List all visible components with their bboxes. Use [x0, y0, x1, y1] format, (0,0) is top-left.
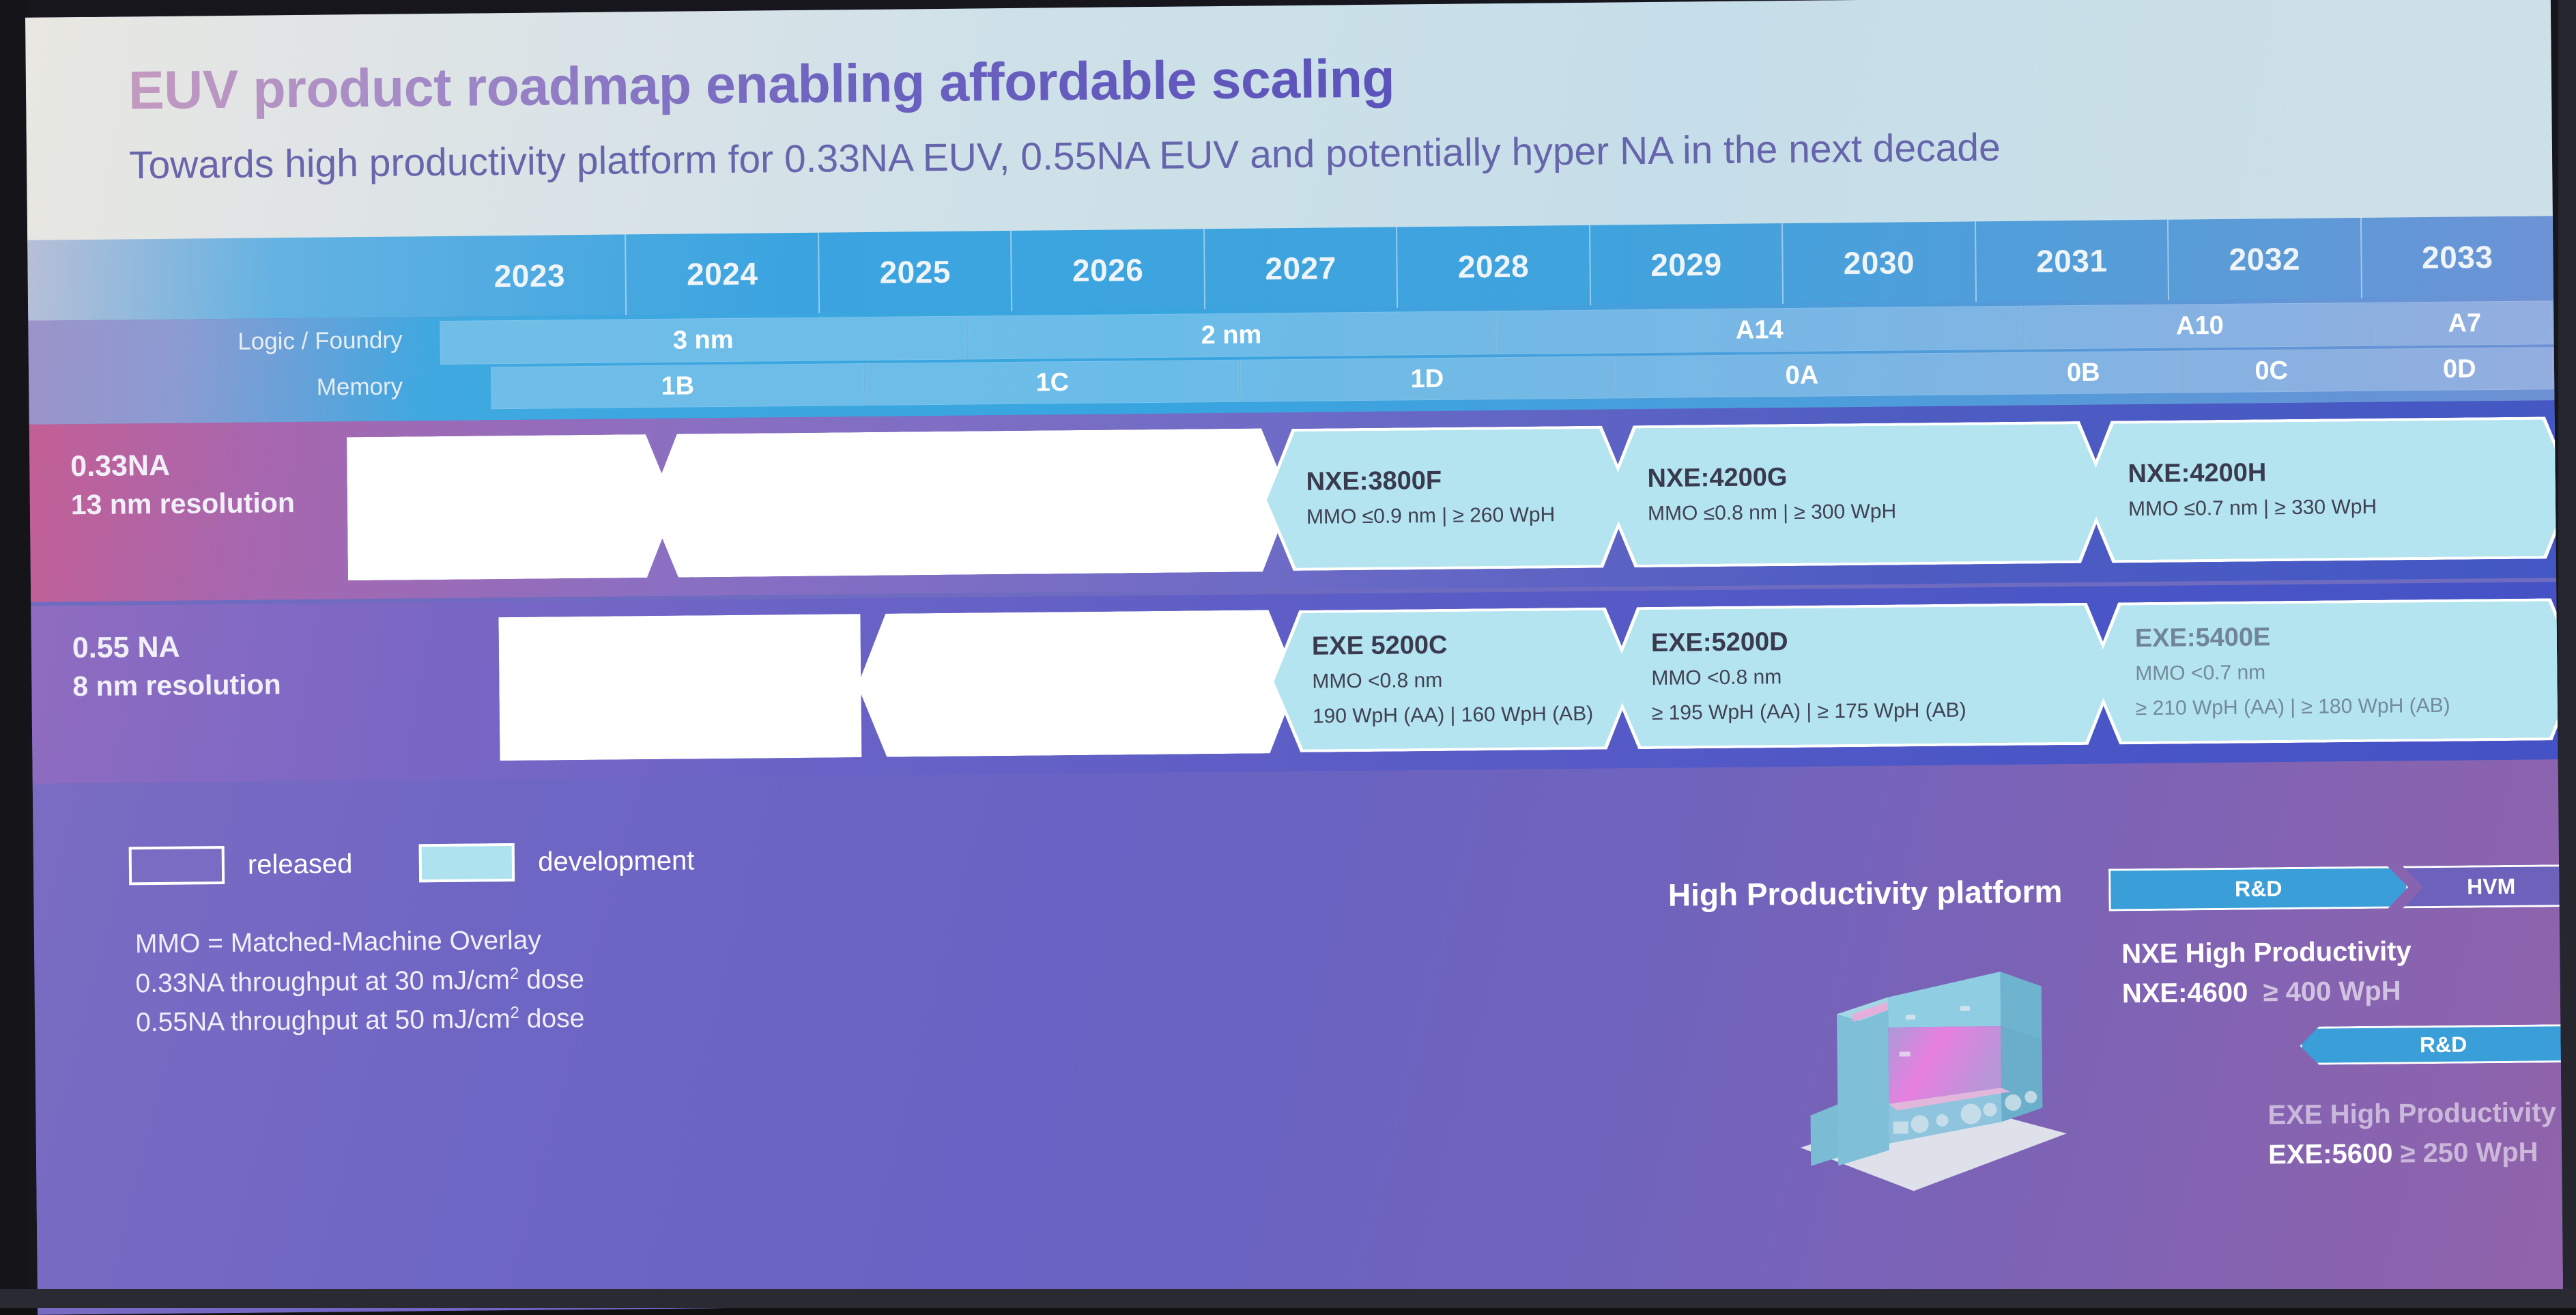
timeline-year-cell: 2025 — [818, 231, 1012, 313]
footnote-055-dose: 0.55NA throughput at 50 mJ/cm2 dose — [136, 999, 585, 1043]
na-033-system-spec: MMO ≤ 1.1 nm | ≥ 160 WpH — [378, 511, 672, 541]
nxe-phase-rd: R&D — [2108, 866, 2408, 911]
na-055-system-item[interactable]: EXE 5200CMMO <0.8 nm190 WpH (AA) | 160 W… — [1273, 610, 1633, 750]
exe-hp-model-line: EXE:5600 ≥ 250 WpH — [2268, 1132, 2557, 1174]
chevron-content: NXE:4200GMMO ≤0.8 nm | ≥ 300 WpH — [1607, 460, 2106, 529]
timeline-year-cell: 2024 — [625, 233, 819, 315]
memory-node-bar: 0D — [2366, 347, 2554, 391]
legend: released development — [129, 841, 695, 885]
na-055-system-spec: 110 WpH (AA) | 75 WpH (AB) — [521, 708, 858, 739]
timeline-year-cell: 2029 — [1589, 223, 1783, 306]
na-033-system-row: NXE:3600DMMO ≤ 1.1 nm | ≥ 160 WpHNXE:380… — [29, 400, 2556, 602]
logic-node-bar: A10 — [2024, 302, 2377, 350]
chevron-content: NXE:3800EMMO ≤0.9 nm | ≥220 WpH — [652, 467, 1287, 538]
na-033-system-item[interactable]: NXE:4200HMMO ≤0.7 nm | ≥ 330 WpH — [2085, 419, 2563, 561]
timeline-year-cell: 2033 — [2360, 216, 2553, 298]
na-033-system-name: NXE:4200G — [1647, 460, 2106, 494]
timeline-year-cell: 2026 — [1010, 229, 1204, 311]
nxe-hp-model-line: NXE:4600 ≥ 400 WpH — [2122, 971, 2412, 1013]
memory-node-bar: 1B — [491, 363, 866, 409]
na-055-system-spec: 175 WpH (AA) | 135 WpH (AB) — [900, 703, 1295, 735]
na-055-system-name: EXE 5200C — [1312, 629, 1632, 662]
na-055-system-item[interactable]: EXE:5200BMMO <0.8 nm175 WpH (AA) | 135 W… — [860, 613, 1295, 754]
exe-high-productivity-block: EXE High Productivity EXE:5600 ≥ 250 WpH — [2267, 1092, 2556, 1174]
exe-hp-name: EXE High Productivity — [2267, 1092, 2556, 1135]
na-033-system-name: NXE:3800E — [690, 467, 1287, 503]
nxe-phase-hvm: HVM — [2403, 864, 2563, 908]
na-033-system-name: NXE:3800F — [1306, 465, 1628, 498]
logic-node-bar: 3 nm — [440, 316, 968, 365]
na-055-system-spec: MMO <0.8 nm — [899, 669, 1294, 701]
timeline-year-cell: 2032 — [2167, 218, 2361, 300]
footnote-mmo: MMO = Matched-Machine Overlay — [135, 920, 584, 964]
page-title: EUV product roadmap enabling affordable … — [128, 47, 1395, 122]
chevron-content: EXE:5000MMO <1.1 nm110 WpH (AA) | 75 WpH… — [502, 636, 858, 739]
chevron-content: NXE:3600DMMO ≤ 1.1 nm | ≥ 160 WpH — [350, 473, 672, 541]
memory-node-bar: 1C — [865, 360, 1241, 406]
na-055-system-spec: MMO <0.8 nm — [1312, 665, 1632, 696]
node-row-spacer — [435, 367, 491, 410]
legend-label-released: released — [248, 849, 353, 880]
na-055-system-name: EXE:5000 — [520, 636, 857, 670]
na-033-system-name: NXE:4200H — [2128, 455, 2563, 489]
logic-node-bar: 2 nm — [968, 311, 1496, 359]
chevron-content: NXE:4200HMMO ≤0.7 nm | ≥ 330 WpH — [2085, 455, 2563, 524]
logic-node-bar: A7 — [2377, 300, 2554, 345]
timeline-year-cell: 2031 — [1975, 220, 2169, 302]
slide-surface: EUV product roadmap enabling affordable … — [25, 0, 2563, 1315]
na-055-system-row: EXE:5000MMO <1.1 nm110 WpH (AA) | 75 WpH… — [31, 582, 2558, 784]
na-033-system-spec: MMO ≤0.7 nm | ≥ 330 WpH — [2128, 492, 2563, 524]
memory-node-bar: 0B — [1990, 351, 2178, 395]
nxe-phase-chevron-bar: R&D HVM — [2108, 864, 2563, 911]
na-055-system-item[interactable]: EXE:5200DMMO <0.8 nm≥ 195 WpH (AA) | ≥ 1… — [1611, 605, 2114, 746]
na-055-section: 0.55 NA 8 nm resolution EXE:5000MMO <1.1… — [31, 582, 2558, 784]
na-055-system-spec: MMO <1.1 nm — [520, 673, 857, 704]
na-033-system-spec: MMO ≤0.8 nm | ≥ 300 WpH — [1648, 496, 2106, 528]
chevron-content: NXE:3800FMMO ≤0.9 nm | ≥ 260 WpH — [1266, 465, 1629, 533]
na-033-system-item[interactable]: NXE:3600DMMO ≤ 1.1 nm | ≥ 160 WpH — [350, 438, 672, 578]
timeline-year-cell: 2023 — [433, 234, 626, 317]
na-055-system-spec: MMO <0.8 nm — [1651, 660, 2113, 692]
chevron-content: EXE:5200BMMO <0.8 nm175 WpH (AA) | 135 W… — [861, 632, 1295, 735]
chevron-content: EXE:5400EMMO <0.7 nm≥ 210 WpH (AA) | ≥ 1… — [2093, 620, 2563, 723]
legend-label-development: development — [538, 845, 694, 877]
nxe-hp-name: NXE High Productivity — [2121, 931, 2412, 974]
exe-phase-rd: R&D — [2300, 1024, 2563, 1065]
memory-node-bar: 0C — [2178, 349, 2366, 393]
na-055-system-item[interactable]: EXE:5000MMO <1.1 nm110 WpH (AA) | 75 WpH… — [502, 617, 858, 757]
high-productivity-title: High Productivity platform — [1668, 873, 2063, 914]
memory-row-label: Memory — [317, 373, 403, 401]
euv-machine-illustration — [1771, 950, 2067, 1199]
na-055-system-name: EXE:5200B — [899, 632, 1294, 666]
logic-node-bar: A14 — [1496, 306, 2024, 354]
timeline-year-cell: 2030 — [1781, 221, 1975, 304]
photographed-slide: EUV product roadmap enabling affordable … — [0, 0, 2576, 1308]
na-033-system-spec: MMO ≤0.9 nm | ≥ 260 WpH — [1306, 501, 1629, 532]
footnote-033-dose: 0.33NA throughput at 30 mJ/cm2 dose — [135, 960, 584, 1004]
memory-node-bar: 0A — [1615, 352, 1990, 398]
memory-node-bar: 1D — [1240, 356, 1616, 401]
na-033-system-spec: MMO ≤0.9 nm | ≥220 WpH — [691, 505, 1287, 538]
na-055-system-spec: ≥ 195 WpH (AA) | ≥ 175 WpH (AB) — [1652, 695, 2114, 727]
legend-swatch-released — [129, 846, 225, 885]
na-055-system-name: EXE:5400E — [2135, 620, 2563, 653]
timeline-year-cell: 2028 — [1396, 225, 1590, 308]
page-subtitle: Towards high productivity platform for 0… — [129, 125, 2001, 188]
slide-header: EUV product roadmap enabling affordable … — [25, 0, 2553, 243]
photo-bottom-border — [0, 1289, 2576, 1308]
footnotes: MMO = Matched-Machine Overlay 0.33NA thr… — [135, 920, 585, 1043]
na-033-system-item[interactable]: NXE:3800EMMO ≤0.9 nm | ≥220 WpH — [652, 432, 1288, 574]
nxe-high-productivity-block: NXE High Productivity NXE:4600 ≥ 400 WpH — [2121, 931, 2412, 1013]
na-055-system-spec: MMO <0.7 nm — [2135, 656, 2563, 688]
na-033-system-name: NXE:3600D — [377, 473, 671, 507]
na-033-section: 0.33NA 13 nm resolution NXE:3600DMMO ≤ 1… — [29, 400, 2556, 602]
na-033-system-item[interactable]: NXE:4200GMMO ≤0.8 nm | ≥ 300 WpH — [1607, 424, 2107, 565]
na-055-system-item[interactable]: EXE:5400EMMO <0.7 nm≥ 210 WpH (AA) | ≥ 1… — [2092, 601, 2563, 742]
na-033-system-item[interactable]: NXE:3800FMMO ≤0.9 nm | ≥ 260 WpH — [1266, 428, 1629, 568]
logic-foundry-row-label: Logic / Foundry — [238, 327, 403, 356]
timeline-year-cell: 2027 — [1203, 227, 1397, 310]
exe-phase-chevron-bar: R&D — [2300, 1024, 2563, 1065]
na-055-system-spec: ≥ 210 WpH (AA) | ≥ 180 WpH (AB) — [2136, 690, 2563, 722]
na-055-system-spec: 190 WpH (AA) | 160 WpH (AB) — [1313, 700, 1633, 731]
legend-swatch-development — [419, 843, 515, 882]
na-055-system-name: EXE:5200D — [1651, 624, 2113, 657]
chevron-content: EXE:5200DMMO <0.8 nm≥ 195 WpH (AA) | ≥ 1… — [1612, 624, 2114, 727]
chevron-content: EXE 5200CMMO <0.8 nm190 WpH (AA) | 160 W… — [1274, 629, 1633, 731]
